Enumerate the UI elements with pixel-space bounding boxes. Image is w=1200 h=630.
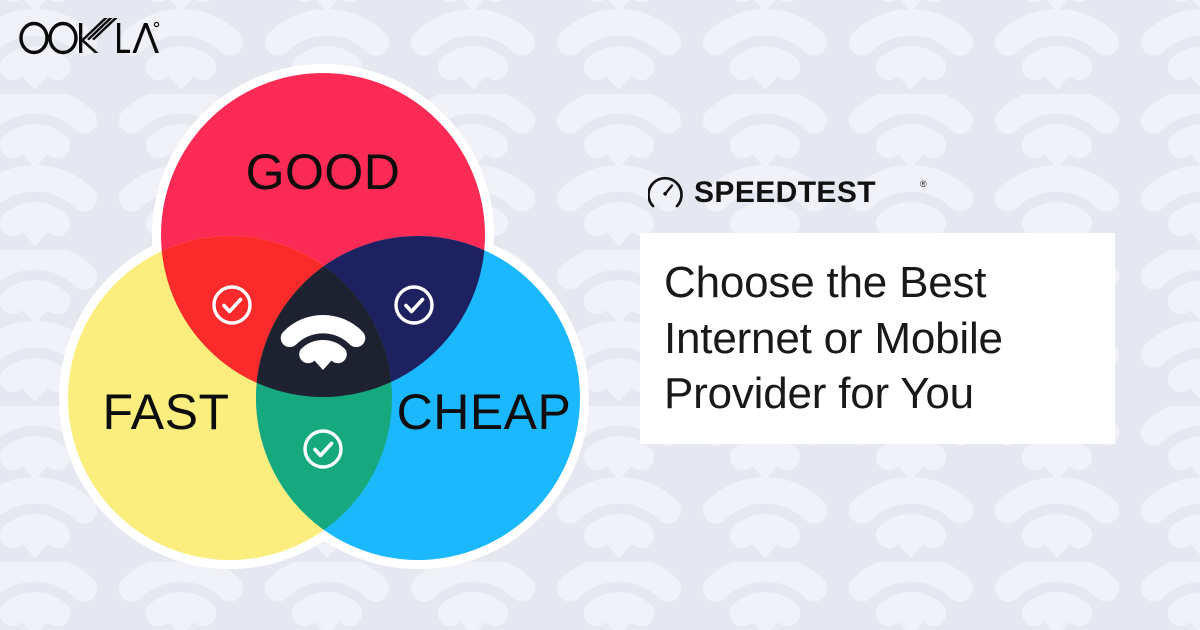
headline-card: Choose the Best Internet or Mobile Provi… (640, 233, 1115, 444)
venn-label-good: GOOD (246, 144, 401, 200)
ookla-trademark-icon (154, 22, 158, 26)
venn-diagram: GOOD FAST CHEAP (0, 45, 620, 605)
venn-label-cheap: CHEAP (397, 384, 572, 440)
right-column: SPEEDTEST ® (640, 175, 1120, 209)
speedtest-logo: SPEEDTEST ® (648, 175, 932, 209)
venn-label-fast: FAST (102, 384, 229, 440)
page-title: Choose the Best Internet or Mobile Provi… (664, 255, 1115, 422)
speedtest-trademark: ® (920, 179, 927, 189)
speedometer-icon (649, 178, 682, 206)
speedtest-wordmark: SPEEDTEST (694, 176, 876, 209)
